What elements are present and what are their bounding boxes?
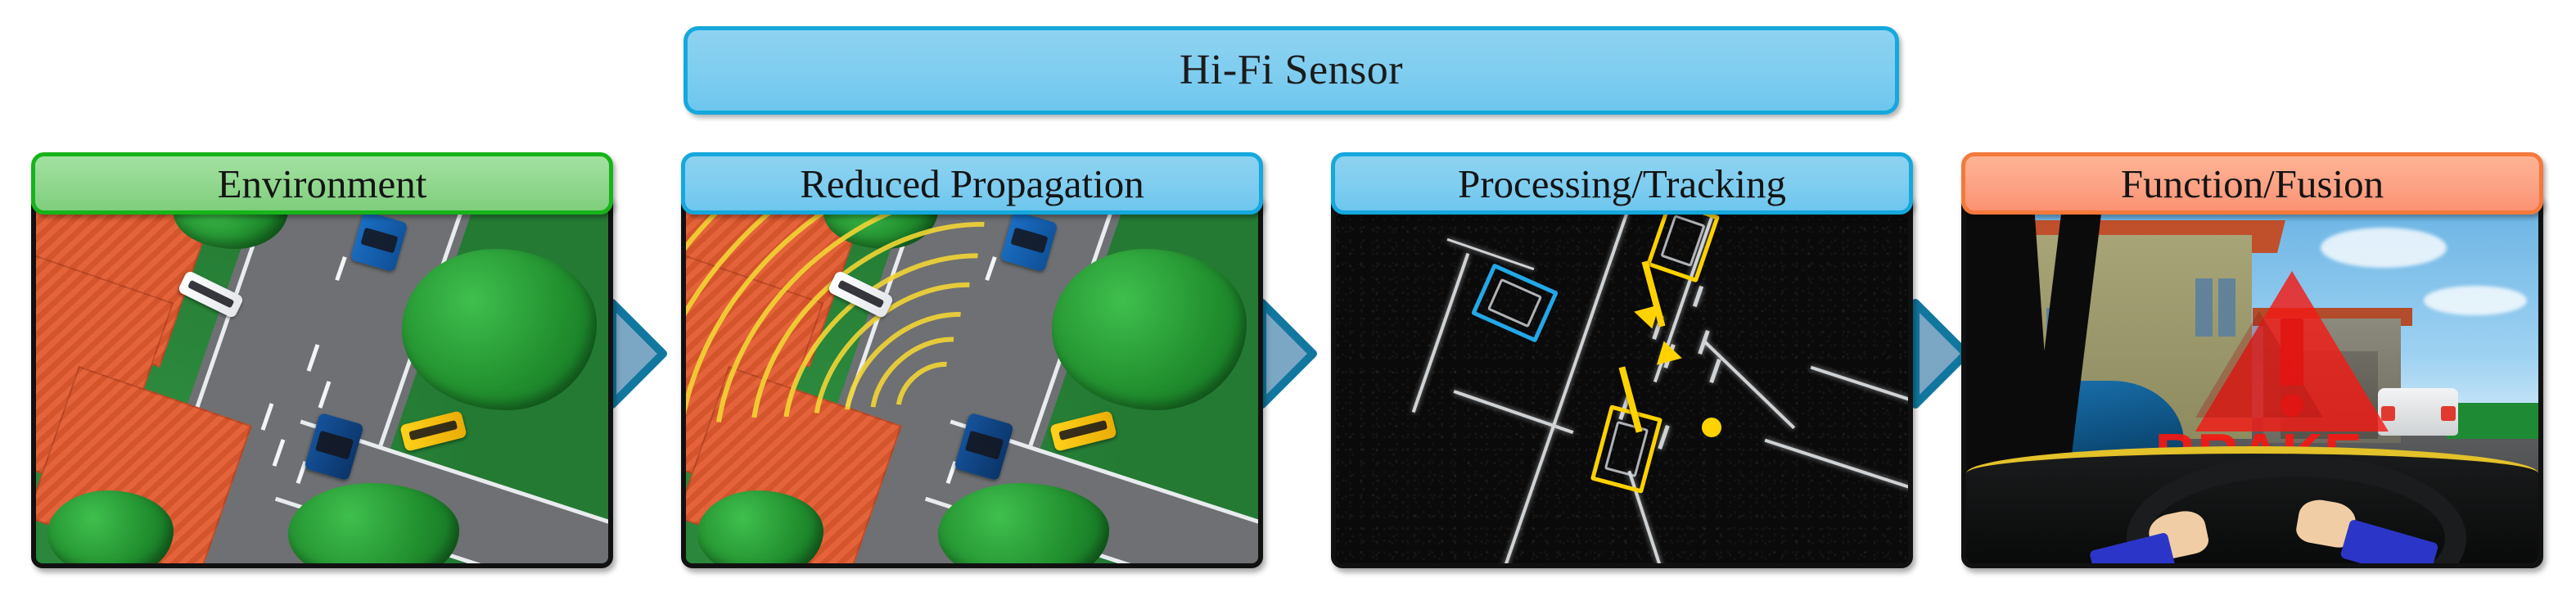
- stage-reduced-propagation: Reduced Propagation: [681, 152, 1263, 568]
- stage-title-reduced-propagation: Reduced Propagation: [800, 164, 1144, 204]
- target-ghost: [1660, 214, 1706, 267]
- point-target-marker: [1702, 418, 1721, 437]
- hifi-sensor-label: Hi-Fi Sensor: [1180, 49, 1403, 92]
- car-window: [1059, 420, 1108, 441]
- stage-function-fusion: Function/Fusion: [1961, 152, 2543, 568]
- radar-wave-arc: [686, 198, 1258, 563]
- arrow-right-icon: [607, 298, 668, 409]
- stage-title-environment: Environment: [218, 164, 427, 204]
- grass-strip: [2447, 403, 2538, 440]
- arrow-env-to-prop: [607, 298, 668, 409]
- stage-image-processing-tracking: [1331, 193, 1913, 568]
- stage-environment: Environment: [31, 152, 613, 568]
- aerial-intersection-with-radar-waves: [686, 198, 1258, 563]
- car-window: [361, 228, 399, 254]
- hifi-sensor-banner: Hi-Fi Sensor: [683, 26, 1899, 115]
- stage-image-function-fusion: BRAKE: [1961, 193, 2543, 568]
- stage-title-function-fusion: Function/Fusion: [2121, 164, 2384, 204]
- stage-title-processing-tracking: Processing/Tracking: [1458, 164, 1786, 204]
- arrow-right-icon: [1257, 298, 1318, 409]
- car-window: [964, 431, 1004, 459]
- stage-image-reduced-propagation: [681, 193, 1263, 568]
- stage-header-environment: Environment: [31, 152, 613, 215]
- stage-header-reduced-propagation: Reduced Propagation: [681, 152, 1263, 215]
- cloud: [2321, 228, 2447, 268]
- stage-processing-tracking: Processing/Tracking: [1331, 152, 1913, 568]
- stage-header-function-fusion: Function/Fusion: [1961, 152, 2543, 215]
- stage-header-processing-tracking: Processing/Tracking: [1331, 152, 1913, 215]
- exclamation-bar-icon: [2281, 319, 2303, 386]
- warning-triangle-inner: [2195, 311, 2323, 418]
- driver-pov-scene: BRAKE: [1966, 198, 2538, 563]
- arrow-prop-to-proc: [1257, 298, 1318, 409]
- taillight: [2441, 406, 2455, 421]
- radar-point-cloud-scene: [1336, 198, 1908, 563]
- exclamation-dot-icon: [2281, 394, 2303, 417]
- stage-image-environment: [31, 193, 613, 568]
- target-ghost: [1487, 278, 1542, 328]
- car-window: [314, 431, 354, 459]
- car-window: [1011, 228, 1049, 254]
- car-window: [409, 420, 458, 441]
- aerial-intersection-scene: [36, 198, 608, 563]
- tree: [402, 249, 597, 409]
- cloud: [2424, 286, 2527, 315]
